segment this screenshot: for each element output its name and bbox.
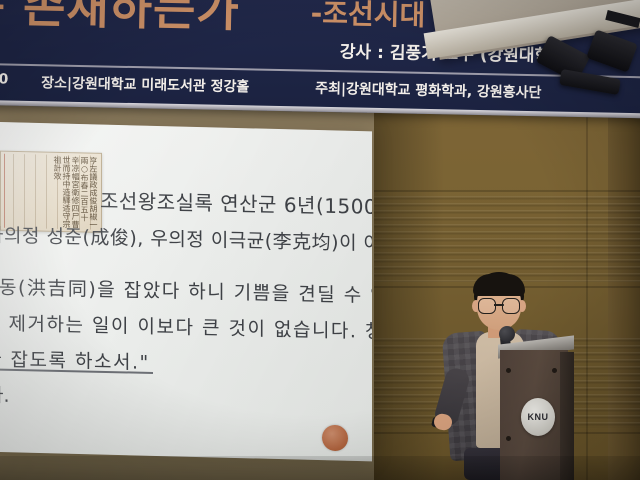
- glasses-icon: [478, 298, 520, 312]
- slide-line-2: 길동(洪吉同)을 잡았다 하니 기쁨을 견딜 수 없습: [0, 272, 372, 308]
- knu-logo-text: KNU: [528, 412, 549, 422]
- banner-headline: 은 존재하는가: [0, 0, 240, 40]
- lectern-bolt-2: [506, 436, 511, 441]
- slide-title: 조선왕조실록 연산군 6년(1500): [100, 185, 372, 220]
- microphone-head: [499, 326, 515, 342]
- knu-logo-icon: KNU: [521, 398, 555, 436]
- projected-slide: 亨左議政成俊胡椒一兩○布春二百五十辛凉幅宮衛修四尸曹世而持中造驛适守宗祖計效 조…: [0, 122, 372, 461]
- lens-left: [478, 298, 496, 314]
- banner-host: 주최|강원대학교 평화학과, 강원흥사단: [315, 78, 542, 103]
- lecture-hall-photo: 亨左議政成俊胡椒一兩○布春二百五十辛凉幅宮衛修四尸曹世而持中造驛适守宗祖計效 조…: [0, 0, 640, 480]
- wall-vertical-seam: [586, 100, 588, 480]
- lectern-bolt-3: [552, 368, 557, 373]
- floor-shadow: [0, 456, 640, 480]
- banner-time: :00: [0, 71, 9, 88]
- lens-right: [502, 298, 520, 314]
- red-seal-icon: [322, 425, 348, 452]
- banner-place: 장소|강원대학교 미래도서관 정강홀: [41, 72, 249, 96]
- document-classical-text: 亨左議政成俊胡椒一兩○布春二百五十辛凉幅宮衛修四尸曹世而持中造驛适守宗祖計效: [4, 155, 98, 229]
- slide-line-1: 좌의정 성준(成俊), 우의정 이극균(李克均)이 아뢰: [0, 220, 372, 256]
- slide-line-3: 을 제거하는 일이 이보다 큰 것이 없습니다. 청컨: [0, 308, 372, 344]
- slide-line-5: 다.: [0, 380, 10, 408]
- hair-top: [473, 274, 525, 296]
- lectern-bolt-1: [506, 368, 511, 373]
